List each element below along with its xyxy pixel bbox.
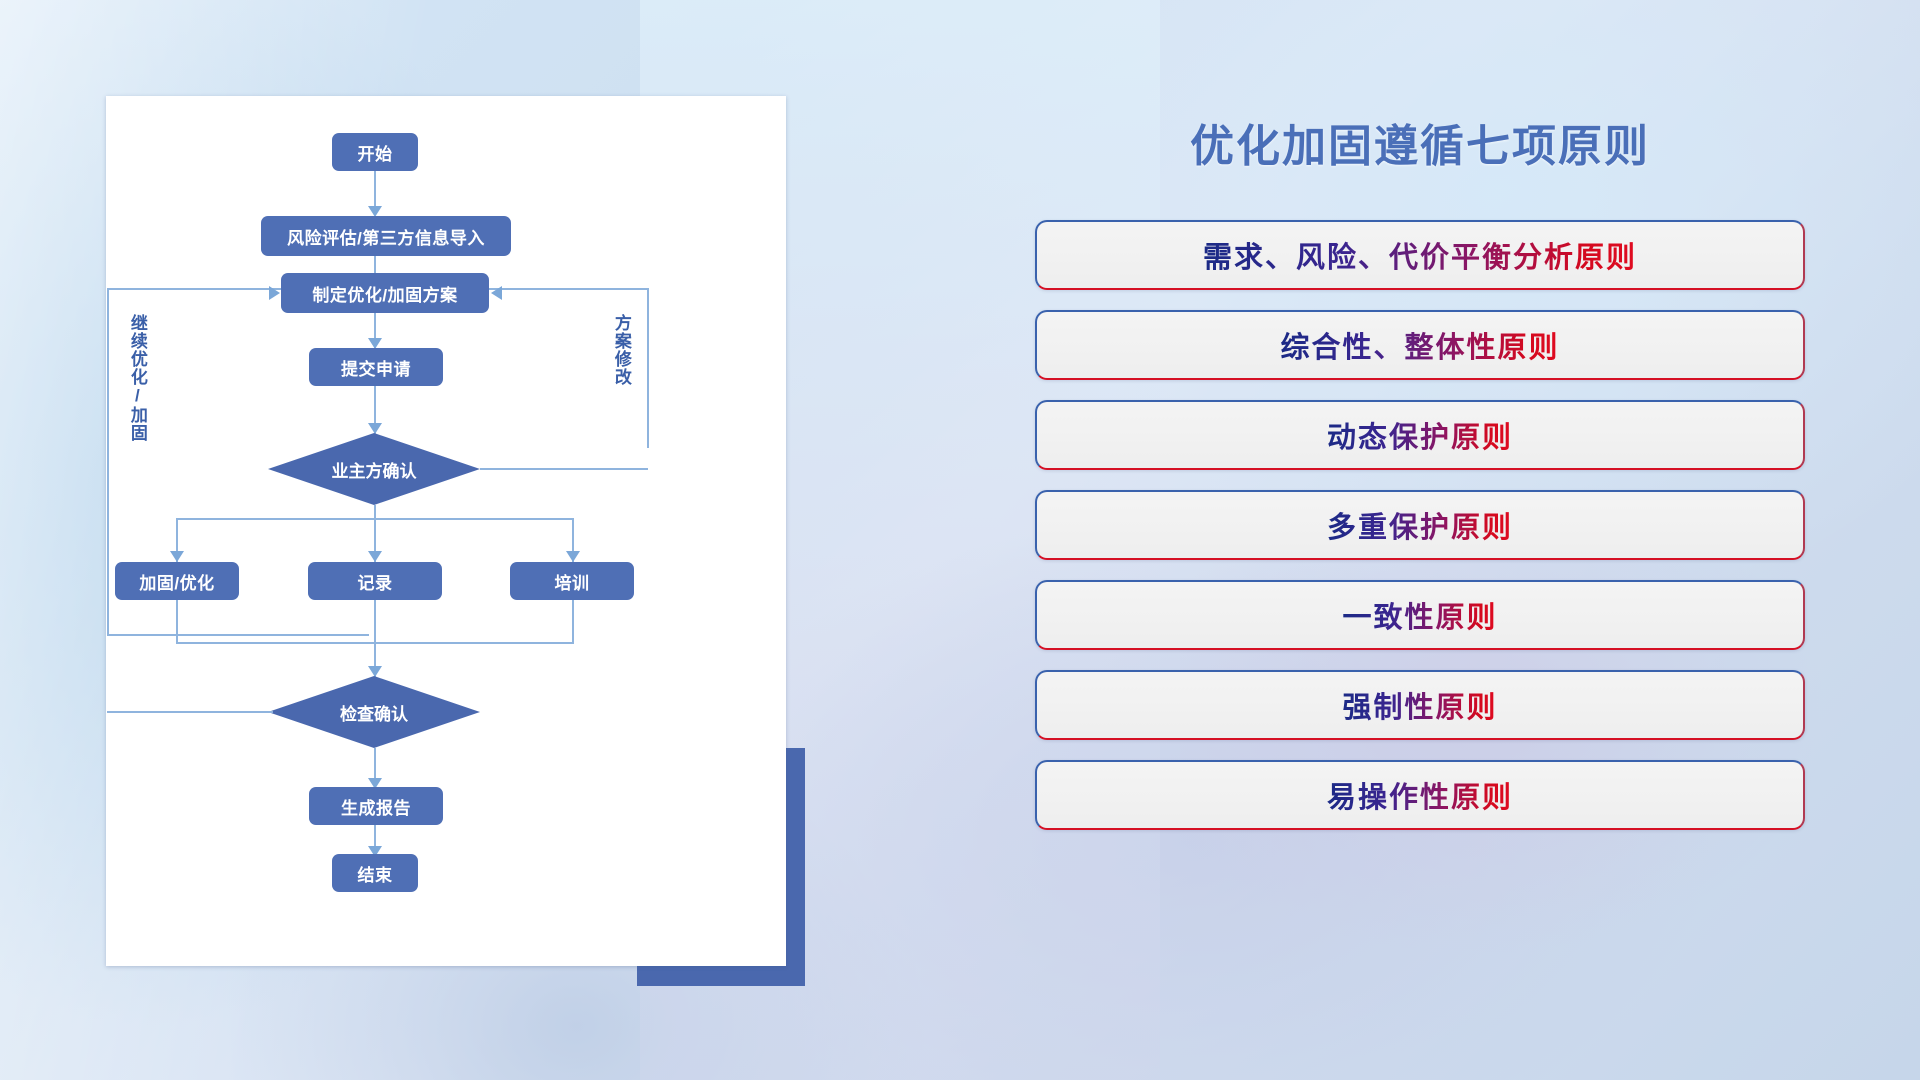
node-generate-report[interactable]: 生成报告 <box>309 787 443 825</box>
node-record-label: 记录 <box>358 569 393 594</box>
node-submit-application[interactable]: 提交申请 <box>309 348 443 386</box>
principles-list: 需求、风险、代价平衡分析原则 综合性、整体性原则 动态保护原则 多重保护原则 一… <box>1035 220 1805 850</box>
node-record[interactable]: 记录 <box>308 562 442 600</box>
decision-owner-confirm-label: 业主方确认 <box>332 457 417 482</box>
principle-item-6[interactable]: 强制性原则 <box>1035 670 1805 740</box>
node-training-label: 培训 <box>555 569 590 594</box>
principle-item-1-label: 需求、风险、代价平衡分析原则 <box>1203 234 1637 276</box>
node-make-plan-label: 制定优化/加固方案 <box>312 281 457 306</box>
flowchart-card: 开始 风险评估/第三方信息导入 制定优化/加固方案 提交申请 业主方确认 加固/… <box>106 96 786 966</box>
node-start-label: 开始 <box>358 140 393 165</box>
principle-item-4[interactable]: 多重保护原则 <box>1035 490 1805 560</box>
principle-item-1[interactable]: 需求、风险、代价平衡分析原则 <box>1035 220 1805 290</box>
edge-check-to-left-loop <box>107 711 273 713</box>
panel-title: 优化加固遵循七项原则 <box>1020 110 1820 174</box>
principle-item-7-label: 易操作性原则 <box>1327 774 1513 816</box>
node-risk-assessment[interactable]: 风险评估/第三方信息导入 <box>261 216 511 256</box>
decision-check-confirm[interactable]: 检查确认 <box>268 676 480 748</box>
node-end-label: 结束 <box>358 861 393 886</box>
node-start[interactable]: 开始 <box>332 133 418 171</box>
node-risk-assessment-label: 风险评估/第三方信息导入 <box>287 224 485 249</box>
node-reinforce-optimize[interactable]: 加固/优化 <box>115 562 239 600</box>
principle-item-2-label: 综合性、整体性原则 <box>1280 324 1559 366</box>
principle-item-4-label: 多重保护原则 <box>1327 504 1513 546</box>
arrow-fan-left-icon <box>170 551 184 562</box>
node-make-plan[interactable]: 制定优化/加固方案 <box>281 273 489 313</box>
principle-item-3[interactable]: 动态保护原则 <box>1035 400 1805 470</box>
node-reinforce-optimize-label: 加固/优化 <box>139 569 214 594</box>
principle-item-6-label: 强制性原则 <box>1342 684 1497 726</box>
principle-item-3-label: 动态保护原则 <box>1327 414 1513 456</box>
principle-item-5-label: 一致性原则 <box>1342 594 1497 636</box>
edge-merge-right-up <box>572 600 574 644</box>
arrow-fan-right-icon <box>566 551 580 562</box>
edge-label-plan-revision: 方案修改 <box>612 314 630 386</box>
decision-check-confirm-label: 检查确认 <box>340 700 408 725</box>
principle-item-2[interactable]: 综合性、整体性原则 <box>1035 310 1805 380</box>
arrow-left-loop-into-plan-icon <box>269 286 280 300</box>
node-generate-report-label: 生成报告 <box>341 794 411 819</box>
principles-panel: 优化加固遵循七项原则 需求、风险、代价平衡分析原则 综合性、整体性原则 动态保护… <box>1020 110 1820 1010</box>
node-end[interactable]: 结束 <box>332 854 418 892</box>
edge-label-continue-optimize: 继续优化/加固 <box>128 314 146 442</box>
edge-fan-top <box>176 518 574 520</box>
edge-merge-left-up <box>176 600 178 644</box>
principle-item-7[interactable]: 易操作性原则 <box>1035 760 1805 830</box>
arrow-merge-to-check-icon <box>368 666 382 677</box>
edge-owner-to-right-loop <box>480 468 648 470</box>
principle-item-5[interactable]: 一致性原则 <box>1035 580 1805 650</box>
node-submit-application-label: 提交申请 <box>341 355 411 380</box>
arrow-right-loop-into-plan-icon <box>491 286 502 300</box>
node-training[interactable]: 培训 <box>510 562 634 600</box>
arrow-submit-to-owner-icon <box>368 423 382 434</box>
arrow-fan-center-icon <box>368 551 382 562</box>
